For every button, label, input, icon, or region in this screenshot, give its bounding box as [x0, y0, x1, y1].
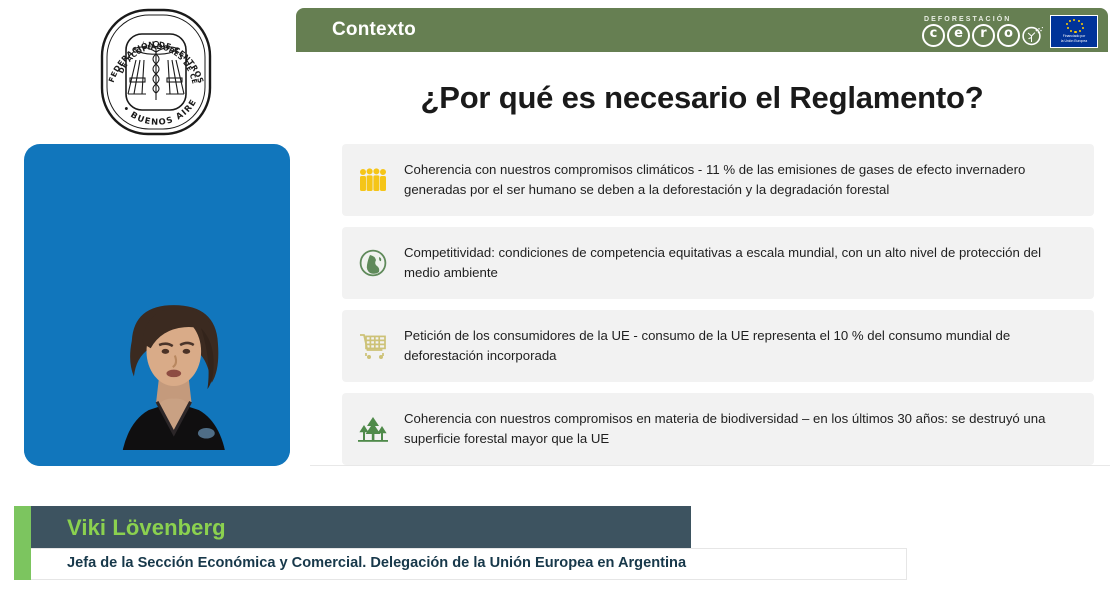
- presentation-stage: FEDERACIÓN DE CENTROS Y ENTIDADES GREMIA…: [0, 0, 1118, 599]
- bullet-row: Petición de los consumidores de la UE - …: [342, 310, 1094, 382]
- bullet-row-text: Coherencia con nuestros compromisos clim…: [404, 160, 1094, 200]
- bullet-row: Competitividad: condiciones de competenc…: [342, 227, 1094, 299]
- cero-letter-o: o: [997, 24, 1020, 47]
- slide-canvas: Contexto DEFORESTACIÓN c e r o: [296, 8, 1108, 470]
- bullet-row: Coherencia con nuestros compromisos en m…: [342, 393, 1094, 465]
- bullet-row-text: Petición de los consumidores de la UE - …: [404, 326, 1094, 366]
- deforestacion-cero-logo: DEFORESTACIÓN c e r o: [922, 16, 1044, 47]
- eu-stars: [1064, 19, 1084, 33]
- eu-funding-badge: Financiado por la Unión Europea: [1050, 15, 1098, 48]
- lower-third-banner: Viki Lövenberg Jefa de la Sección Económ…: [14, 506, 922, 580]
- speaker-name-panel: Viki Lövenberg: [31, 506, 691, 548]
- cero-letter-e: e: [947, 24, 970, 47]
- section-label: Contexto: [332, 19, 416, 41]
- speaker-role: Jefa de la Sección Económica y Comercial…: [67, 555, 686, 571]
- eu-caption-line1: Financiado por: [1063, 34, 1085, 38]
- desk-edge: [24, 450, 290, 466]
- bullet-row-text: Competitividad: condiciones de competenc…: [404, 243, 1094, 283]
- bullet-row-list: Coherencia con nuestros compromisos clim…: [342, 144, 1094, 476]
- cero-wordmark: c e r o: [922, 24, 1044, 47]
- brand-lockup: DEFORESTACIÓN c e r o: [922, 12, 1098, 50]
- slide-title: ¿Por qué es necesario el Reglamento?: [296, 80, 1108, 116]
- slide-header-bar: Contexto DEFORESTACIÓN c e r o: [296, 8, 1108, 52]
- svg-text:DE ACOPIADORES DE CEREALES: DE ACOPIADORES DE CEREALES: [72, 2, 199, 85]
- section-divider: [310, 465, 1110, 466]
- speaker-figure: [69, 286, 279, 466]
- speaker-role-panel: Jefa de la Sección Económica y Comercial…: [31, 548, 907, 580]
- bullet-row: Coherencia con nuestros compromisos clim…: [342, 144, 1094, 216]
- brand-kicker: DEFORESTACIÓN: [924, 16, 1011, 23]
- acopiadores-seal: FEDERACIÓN DE CENTROS Y ENTIDADES GREMIA…: [72, 2, 240, 142]
- bullet-row-text: Coherencia con nuestros compromisos en m…: [404, 409, 1094, 449]
- accent-bar: [14, 506, 31, 580]
- seal-graphic: FEDERACIÓN DE CENTROS Y ENTIDADES GREMIA…: [72, 2, 240, 142]
- speaker-name: Viki Lövenberg: [67, 515, 226, 541]
- forest-trees-icon: [342, 415, 404, 443]
- speaker-video-tile[interactable]: [24, 144, 290, 466]
- cero-letter-c: c: [922, 24, 945, 47]
- eu-caption-line2: la Unión Europea: [1061, 39, 1087, 43]
- cero-letter-r: r: [972, 24, 995, 47]
- group-of-people-icon: [342, 167, 404, 193]
- tree-dispersing-icon: [1022, 24, 1044, 46]
- shopping-cart-icon: [342, 332, 404, 360]
- globe-icon: [342, 248, 404, 278]
